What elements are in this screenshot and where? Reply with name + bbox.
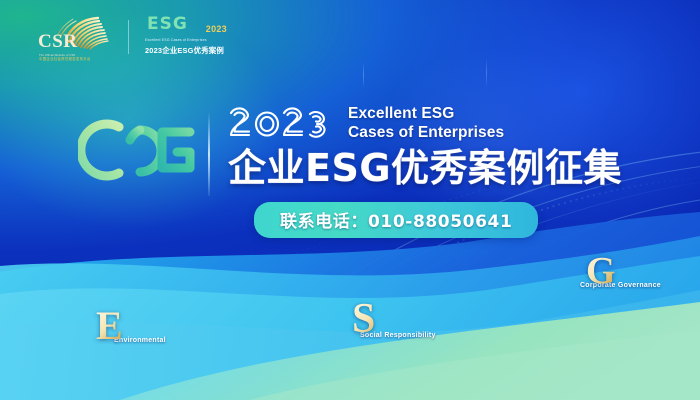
hero-block: Excellent ESG Cases of Enterprises 企业ESG… [78,100,622,238]
esg-badge-year: 2023 [206,24,227,34]
pillar-social: S Social Responsibility [352,298,436,339]
hero-english-line2: Cases of Enterprises [348,124,504,143]
hero-english-title: Excellent ESG Cases of Enterprises [348,105,504,142]
csr-logo[interactable]: CSR The Official Website of CSR 中国企业社会责任… [36,14,114,60]
pillar-governance: G Corporate Governance [586,252,661,289]
header-divider [128,20,129,54]
contact-phone-pill[interactable]: 联系电话：010-88050641 [254,202,538,238]
hero-english-line1: Excellent ESG [348,105,504,124]
pillar-letter-g: G [586,252,661,290]
esg-badge-subtitle-cn: 2023企业ESG优秀案例 [145,45,224,56]
esg-badge-subtitle-en: Excellent ESG Cases of Enterprises [145,38,207,42]
esg-monogram-icon [78,110,196,190]
contact-phone-text: 联系电话：010-88050641 [280,212,512,232]
hero-text: Excellent ESG Cases of Enterprises 企业ESG… [228,104,622,238]
csr-wordmark: CSR [38,32,78,51]
hero-top-row: Excellent ESG Cases of Enterprises [228,104,622,142]
hero-divider [208,112,210,196]
pillar-letter-e: E [96,306,166,346]
esg-badge-logo[interactable]: ESG 2023 Excellent ESG Cases of Enterpri… [143,15,227,59]
csr-tagline-cn: 中国企业社会责任报告发布平台 [39,56,91,61]
pillar-environmental: E Environmental [96,306,166,344]
esg-campaign-poster: CSR The Official Website of CSR 中国企业社会责任… [0,0,700,400]
hero-year-2023 [228,104,332,140]
esg-badge-mark: ESG [147,16,188,33]
pillar-letter-s: S [352,298,436,340]
header-logo-bar: CSR The Official Website of CSR 中国企业社会责任… [36,14,227,60]
hero-chinese-title: 企业ESG优秀案例征集 [228,146,622,190]
